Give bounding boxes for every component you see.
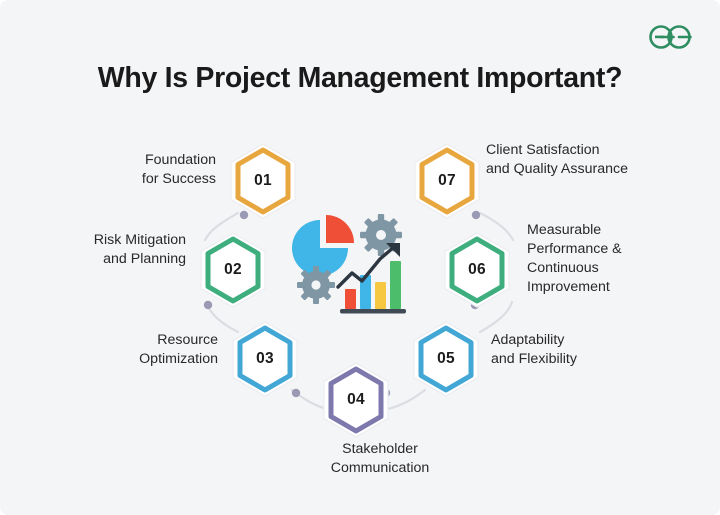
process-node-01[interactable]: 01	[232, 147, 294, 215]
node-label-05: Adaptability and Flexibility	[491, 331, 641, 369]
node-label-02: Risk Mitigation and Planning	[46, 231, 186, 269]
node-number: 01	[232, 147, 294, 215]
node-number: 03	[234, 325, 296, 393]
node-number: 04	[325, 366, 387, 434]
node-label-04: Stakeholder Communication	[295, 440, 465, 478]
node-label-03: Resource Optimization	[93, 331, 218, 369]
gear-small	[297, 266, 335, 304]
process-node-03[interactable]: 03	[234, 325, 296, 393]
infographic-canvas: Why Is Project Management Important?	[0, 0, 720, 515]
node-number: 07	[416, 147, 478, 215]
node-number: 05	[415, 325, 477, 393]
process-node-07[interactable]: 07	[416, 147, 478, 215]
business-analytics-illustration	[288, 203, 418, 323]
pie-chart	[292, 215, 354, 276]
geeksforgeeks-logo	[644, 20, 696, 54]
process-node-06[interactable]: 06	[446, 236, 508, 304]
process-diagram: 01 02 03	[0, 118, 720, 498]
process-node-04[interactable]: 04	[325, 366, 387, 434]
node-number: 06	[446, 236, 508, 304]
process-node-05[interactable]: 05	[415, 325, 477, 393]
node-label-01: Foundation for Success	[106, 151, 216, 189]
node-label-07: Client Satisfaction and Quality Assuranc…	[486, 141, 686, 179]
node-number: 02	[202, 236, 264, 304]
process-node-02[interactable]: 02	[202, 236, 264, 304]
page-title: Why Is Project Management Important?	[0, 62, 720, 95]
node-label-06: Measurable Performance & Continuous Impr…	[527, 221, 662, 297]
